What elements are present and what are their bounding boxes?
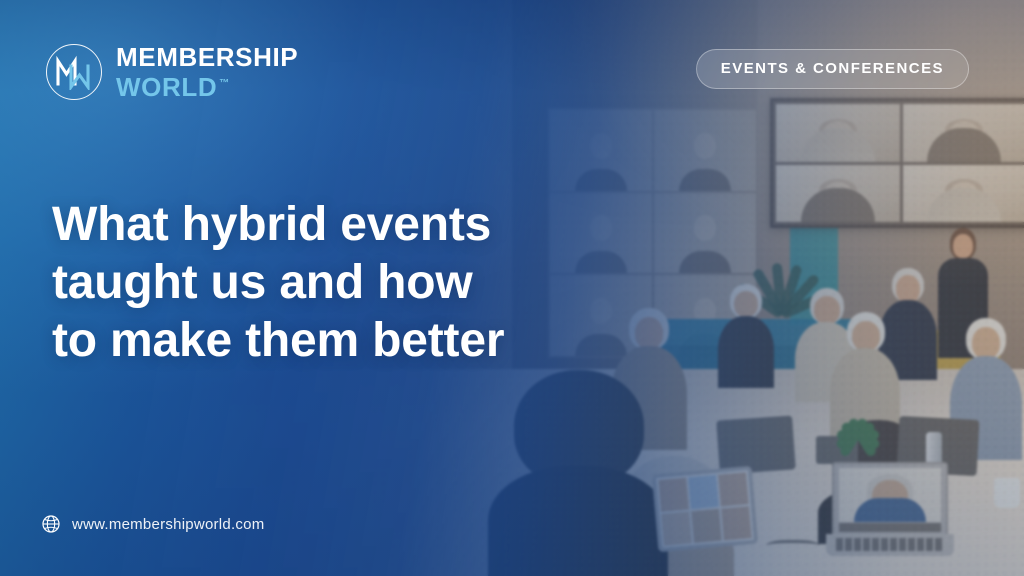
headline-line-2: taught us and how: [52, 254, 504, 312]
brand-name-line2: WORLD™: [116, 74, 298, 100]
brand-name-line1: MEMBERSHIP: [116, 44, 298, 70]
hero-banner: MEMBERSHIP WORLD™ EVENTS & CONFERENCES W…: [0, 0, 1024, 576]
website-url[interactable]: www.membershipworld.com: [41, 514, 264, 534]
globe-icon: [41, 514, 61, 534]
headline-line-3: to make them better: [52, 312, 504, 370]
brand-wordmark: MEMBERSHIP WORLD™: [116, 44, 298, 100]
mw-monogram-icon: [46, 44, 102, 100]
headline-line-1: What hybrid events: [52, 196, 504, 254]
brand-logo[interactable]: MEMBERSHIP WORLD™: [46, 44, 298, 100]
trademark-symbol: ™: [219, 78, 229, 89]
brand-name-world: WORLD: [116, 72, 217, 102]
banner-content: MEMBERSHIP WORLD™ EVENTS & CONFERENCES W…: [0, 0, 1024, 576]
website-url-text: www.membershipworld.com: [72, 516, 264, 533]
page-title: What hybrid events taught us and how to …: [52, 196, 504, 370]
category-badge[interactable]: EVENTS & CONFERENCES: [696, 49, 969, 89]
